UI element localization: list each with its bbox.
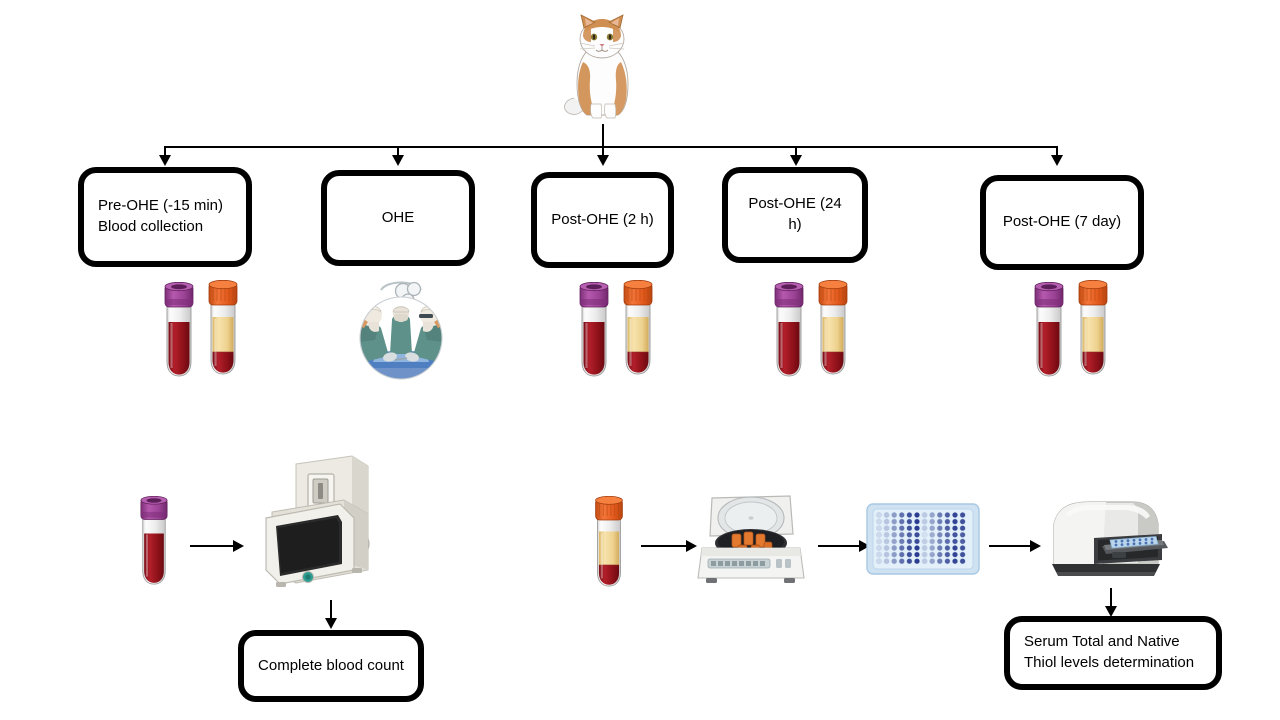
timeline-box-pre-ohe[interactable]: Pre-OHE (-15 min) Blood collection (78, 167, 252, 267)
cbc-sample-tube (136, 496, 172, 586)
centrifuge (694, 490, 810, 590)
result-box-thiol-levels-label: Serum Total and Native Thiol levels dete… (1024, 632, 1194, 673)
cbc-arrow-head (233, 540, 244, 552)
microplate-reader (1046, 494, 1172, 584)
timeline-box-post-ohe-7day[interactable]: Post-OHE (7 day) (980, 175, 1144, 270)
timeline-box-post-ohe-2h-label: Post-OHE (2 h) (551, 210, 654, 231)
cat-illustration (555, 12, 650, 124)
timeline-box-post-ohe-7day-label: Post-OHE (7 day) (1003, 212, 1121, 233)
cat-to-bus-stem (602, 124, 604, 146)
hematology-analyzer (256, 452, 378, 596)
result-box-complete-blood-count[interactable]: Complete blood count (238, 630, 424, 702)
timeline-samples-post-ohe-7day (1028, 280, 1116, 380)
microplate-96-well (866, 503, 980, 575)
thiol-arrow-3-head (1030, 540, 1041, 552)
arrow-to-ohe (392, 155, 404, 166)
timeline-box-post-ohe-24h-label: Post-OHE (24 h) (742, 194, 848, 235)
thiol-arrow-2-line (818, 545, 860, 547)
thiol-arrow-1-line (641, 545, 687, 547)
thiol-sample-tube (591, 496, 627, 588)
arrow-to-pre-ohe (159, 155, 171, 166)
timeline-bus-line (164, 146, 1057, 148)
diagram-canvas: Pre-OHE (-15 min) Blood collection OHE P… (0, 0, 1280, 720)
timeline-box-post-ohe-2h[interactable]: Post-OHE (2 h) (531, 172, 674, 268)
timeline-box-ohe-label: OHE (382, 208, 415, 229)
arrow-to-post-24h (790, 155, 802, 166)
timeline-samples-pre-ohe (158, 280, 246, 380)
result-box-thiol-levels[interactable]: Serum Total and Native Thiol levels dete… (1004, 616, 1222, 690)
arrow-to-post-2h (597, 155, 609, 166)
result-box-complete-blood-count-label: Complete blood count (258, 656, 404, 677)
timeline-box-pre-ohe-label: Pre-OHE (-15 min) Blood collection (98, 196, 223, 237)
surgery-illustration (345, 278, 457, 384)
cbc-result-arrow-head (325, 618, 337, 629)
arrow-to-post-7day (1051, 155, 1063, 166)
timeline-box-post-ohe-24h[interactable]: Post-OHE (24 h) (722, 167, 868, 263)
timeline-samples-post-ohe-2h (573, 280, 661, 380)
timeline-samples-post-ohe-24h (768, 280, 856, 380)
thiol-arrow-3-line (989, 545, 1031, 547)
timeline-box-ohe[interactable]: OHE (321, 170, 475, 266)
cbc-arrow-line (190, 545, 234, 547)
